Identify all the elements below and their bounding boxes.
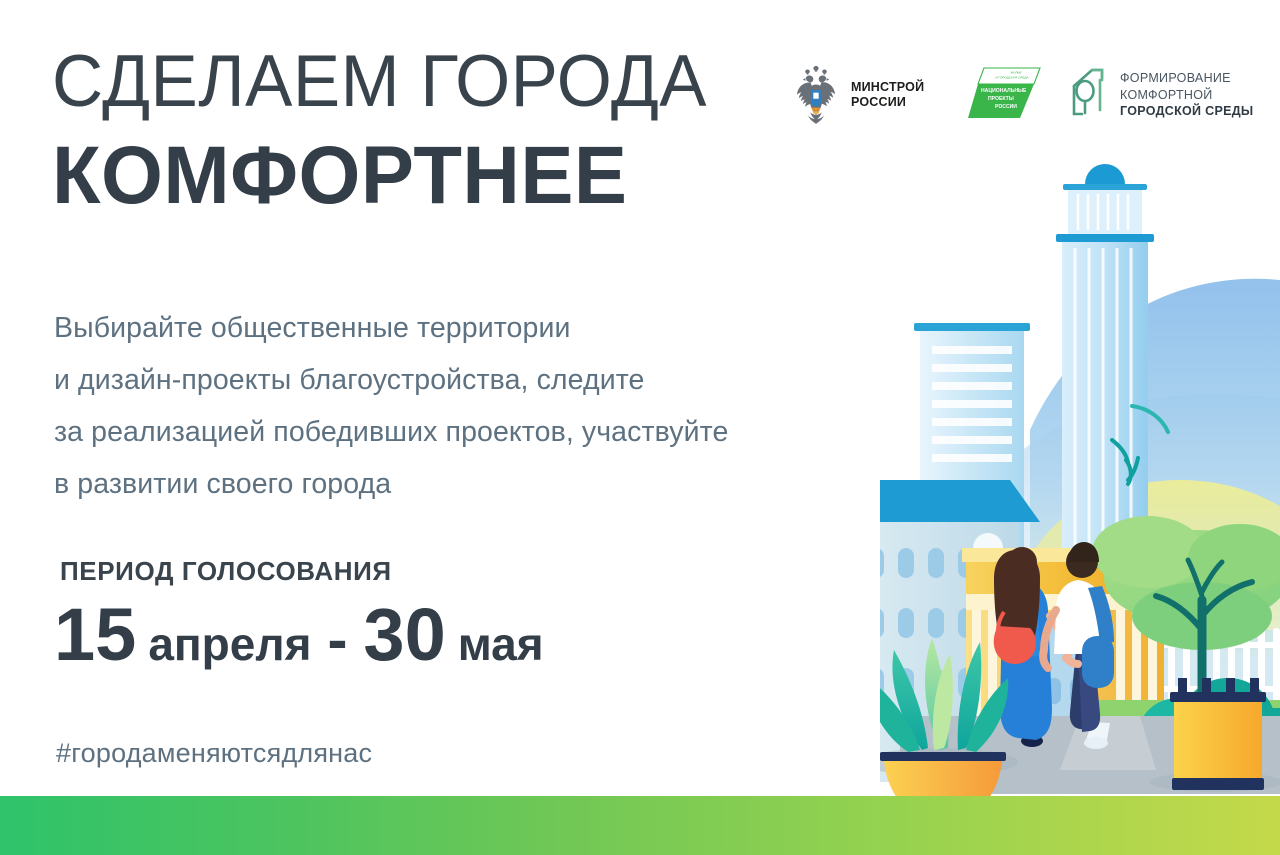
body-line-1: Выбирайте общественные территории (54, 302, 914, 354)
svg-text:НАЦИОНАЛЬНЫЕ: НАЦИОНАЛЬНЫЕ (981, 88, 1027, 94)
fks-line-1: ФОРМИРОВАНИЕ (1120, 70, 1253, 87)
bottom-gradient-bar (0, 796, 1280, 855)
svg-text:И ГОРОДСКАЯ СРЕДА: И ГОРОДСКАЯ СРЕДА (995, 75, 1029, 79)
voting-end-month: мая (458, 621, 544, 667)
logo-national-projects: ЖИЛЬЕ И ГОРОДСКАЯ СРЕДА НАЦИОНАЛЬНЫЕ ПРО… (964, 64, 1044, 126)
body-copy: Выбирайте общественные территории и диза… (54, 302, 914, 510)
body-line-4: в развитии своего города (54, 458, 914, 510)
poster-root: МИНСТРОЙ РОССИИ ЖИЛЬЕ И ГОРОДСКАЯ СРЕДА … (0, 0, 1280, 855)
voting-end-day: 30 (363, 598, 445, 672)
voting-period-dates: 15 апреля - 30 мая (54, 598, 544, 672)
voting-date-separator: - (327, 610, 347, 670)
fks-line-2: КОМФОРТНОЙ (1120, 87, 1253, 104)
russian-coat-of-arms-eagle-icon (790, 64, 842, 126)
fks-line-3: ГОРОДСКОЙ СРЕДЫ (1120, 103, 1253, 120)
voting-period-label: ПЕРИОД ГОЛОСОВАНИЯ (60, 556, 392, 587)
voting-start-day: 15 (54, 598, 136, 672)
page-title: СДЕЛАЕМ ГОРОДА КОМФОРТНЕЕ (52, 46, 772, 217)
logo-minstroy-label: МИНСТРОЙ РОССИИ (851, 80, 924, 110)
svg-text:ПРОЕКТЫ: ПРОЕКТЫ (988, 96, 1014, 102)
logo-row: МИНСТРОЙ РОССИИ ЖИЛЬЕ И ГОРОДСКАЯ СРЕДА … (790, 55, 1260, 135)
logo-comfortable-urban-environment-label: ФОРМИРОВАНИЕ КОМФОРТНОЙ ГОРОДСКОЙ СРЕДЫ (1120, 70, 1253, 120)
svg-text:ЖИЛЬЕ: ЖИЛЬЕ (1010, 71, 1021, 75)
headline-line-1: СДЕЛАЕМ ГОРОДА (52, 46, 750, 118)
logo-comfortable-urban-environment: ФОРМИРОВАНИЕ КОМФОРТНОЙ ГОРОДСКОЙ СРЕДЫ (1068, 64, 1253, 126)
voting-start-month: апреля (148, 621, 311, 667)
hashtag: #городаменяютсядлянас (56, 738, 372, 769)
logo-minstroy: МИНСТРОЙ РОССИИ (790, 64, 950, 126)
comfortable-urban-environment-mark-icon (1068, 64, 1110, 126)
city-park-illustration (880, 130, 1280, 798)
headline-line-2: КОМФОРТНЕЕ (52, 134, 750, 218)
body-line-2: и дизайн-проекты благоустройства, следит… (54, 354, 914, 406)
body-line-3: за реализацией победивших проектов, учас… (54, 406, 914, 458)
svg-text:РОССИИ: РОССИИ (995, 104, 1017, 110)
